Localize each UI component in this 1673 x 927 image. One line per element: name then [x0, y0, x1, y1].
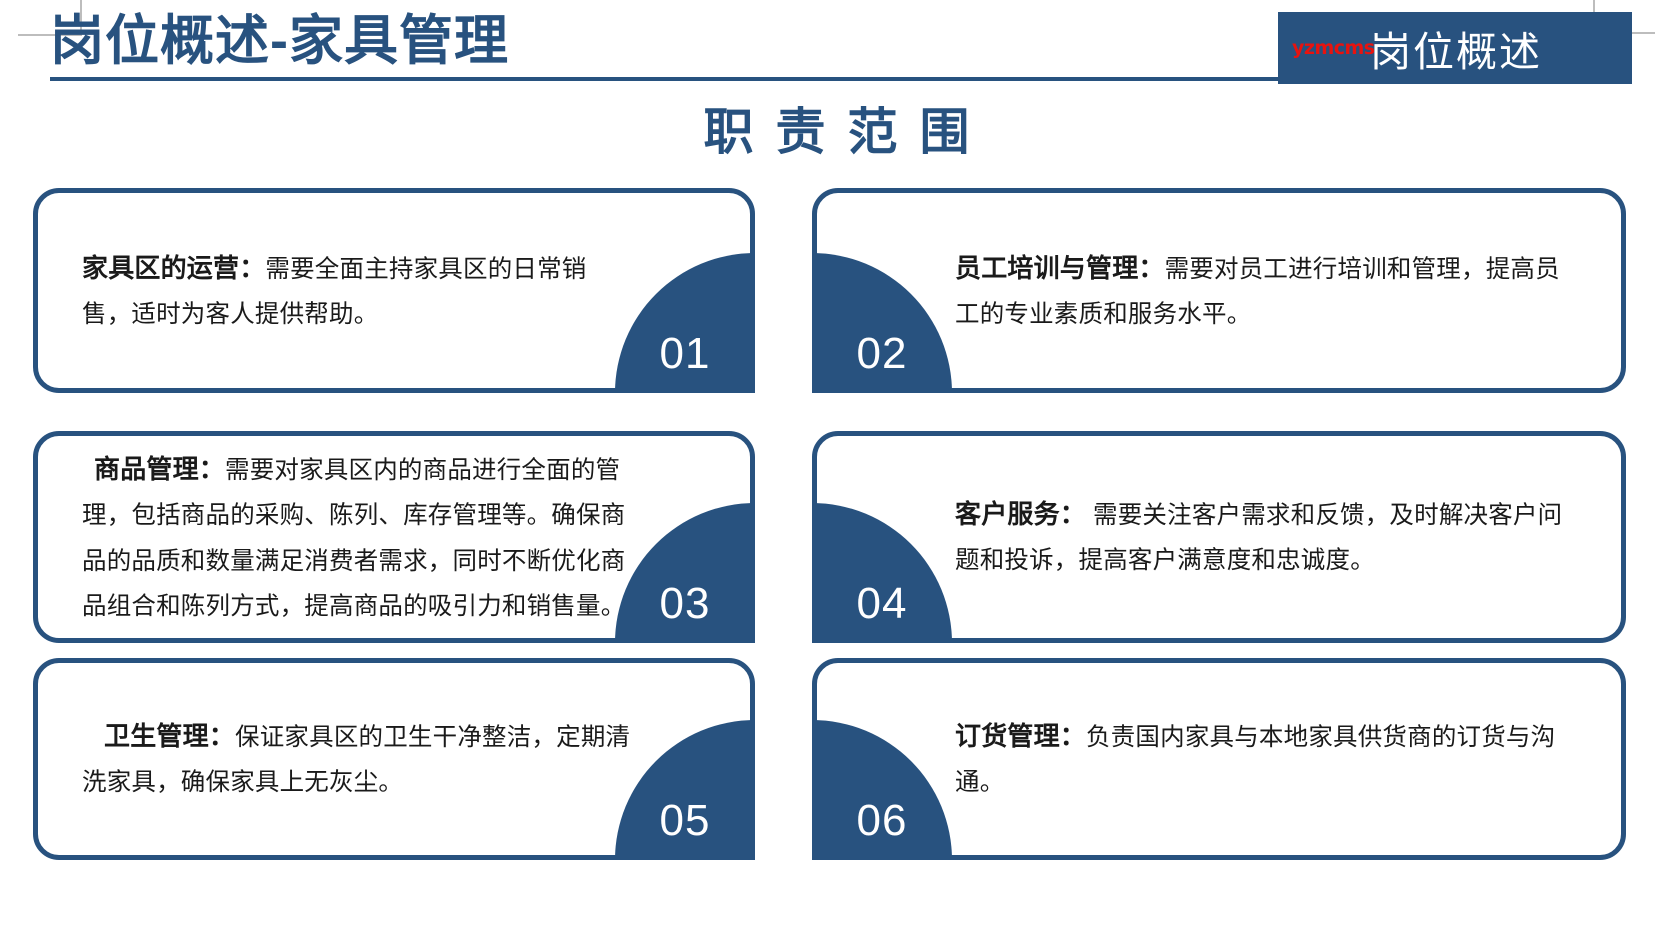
responsibility-card-06: 订货管理：负责国内家具与本地家具供货商的订货与沟通。 06: [812, 658, 1626, 860]
section-heading: 职责范围: [0, 92, 1673, 164]
yzmcms-watermark-text: yzmcms: [1292, 37, 1375, 59]
card-lead-04: 客户服务：: [955, 499, 1086, 529]
card-text-02: 员工培训与管理：需要对员工进行培训和管理，提高员工的专业素质和服务水平。: [955, 244, 1573, 338]
responsibility-card-05: 卫生管理：保证家具区的卫生干净整洁，定期清洗家具，确保家具上无灰尘。 05: [33, 658, 755, 860]
card-number-badge-05: 05: [615, 720, 755, 860]
card-lead-06: 订货管理：: [955, 721, 1086, 751]
responsibility-card-03: 商品管理：需要对家具区内的商品进行全面的管理，包括商品的采购、陈列、库存管理等。…: [33, 431, 755, 643]
card-text-03: 商品管理：需要对家具区内的商品进行全面的管理，包括商品的采购、陈列、库存管理等。…: [82, 445, 632, 629]
slide-canvas: 岗位概述-家具管理 yzmcms 岗位概述 职责范围 家具区的运营：需要全面主持…: [0, 0, 1673, 927]
card-text-01: 家具区的运营：需要全面主持家具区的日常销售，适时为客人提供帮助。: [82, 244, 632, 338]
card-text-05: 卫生管理：保证家具区的卫生干净整洁，定期清洗家具，确保家具上无灰尘。: [82, 712, 632, 806]
card-text-04: 客户服务： 需要关注客户需求和反馈，及时解决客户问题和投诉，提高客户满意度和忠诚…: [955, 490, 1573, 584]
card-lead-05: 卫生管理：: [104, 721, 235, 751]
card-number-badge-02: 02: [812, 253, 952, 393]
header-badge: yzmcms 岗位概述: [1278, 12, 1632, 84]
card-lead-02: 员工培训与管理：: [955, 253, 1165, 283]
page-title: 岗位概述-家具管理: [50, 10, 509, 72]
card-number-badge-06: 06: [812, 720, 952, 860]
responsibility-card-01: 家具区的运营：需要全面主持家具区的日常销售，适时为客人提供帮助。 01: [33, 188, 755, 393]
card-number-badge-03: 03: [615, 503, 755, 643]
card-text-06: 订货管理：负责国内家具与本地家具供货商的订货与沟通。: [955, 712, 1573, 806]
card-number-badge-04: 04: [812, 503, 952, 643]
card-number-badge-01: 01: [615, 253, 755, 393]
title-underline: [50, 77, 1282, 81]
header-badge-label: 岗位概述: [1370, 18, 1542, 78]
responsibility-card-04: 客户服务： 需要关注客户需求和反馈，及时解决客户问题和投诉，提高客户满意度和忠诚…: [812, 431, 1626, 643]
card-lead-01: 家具区的运营：: [82, 253, 265, 283]
responsibility-card-02: 员工培训与管理：需要对员工进行培训和管理，提高员工的专业素质和服务水平。 02: [812, 188, 1626, 393]
responsibility-card-grid: 家具区的运营：需要全面主持家具区的日常销售，适时为客人提供帮助。 01 员工培训…: [33, 188, 1629, 860]
card-lead-03: 商品管理：: [94, 454, 225, 484]
